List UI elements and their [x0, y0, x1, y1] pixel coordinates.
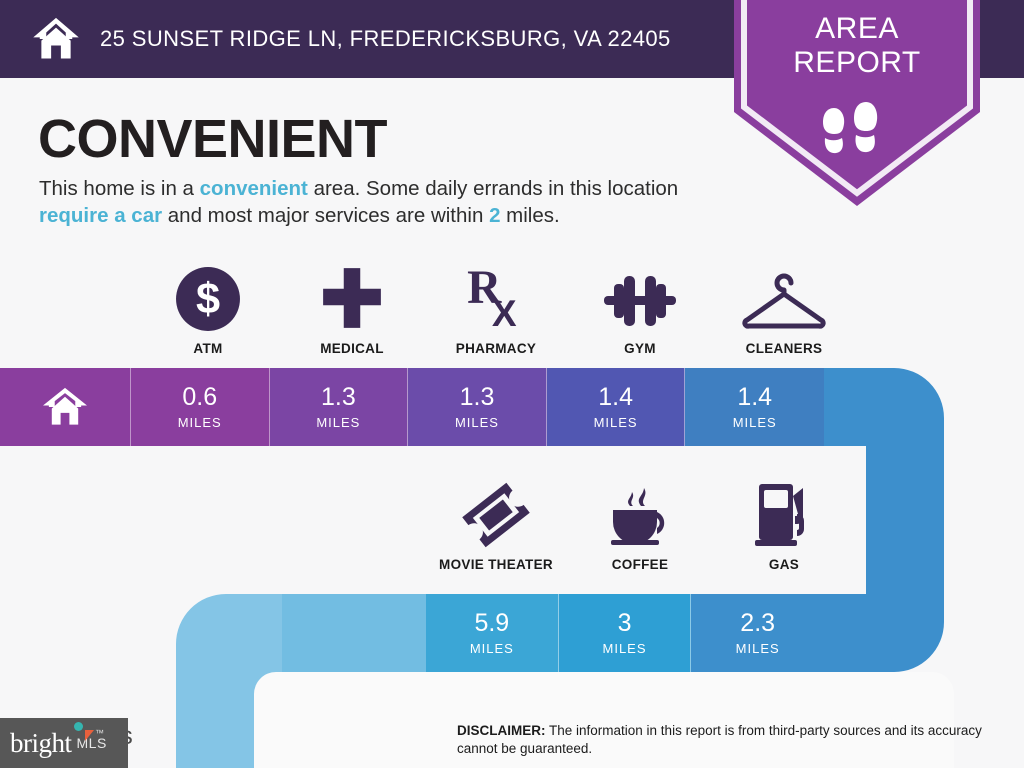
- hero-highlight-2: require a car: [39, 204, 162, 227]
- amenity-label: ATM: [193, 341, 222, 356]
- distance-value: 2.3: [740, 611, 775, 636]
- amenity-label: MEDICAL: [320, 341, 384, 356]
- house-icon: [41, 385, 89, 429]
- path-lead-segment: [282, 594, 426, 672]
- amenity-label: GAS: [769, 557, 799, 572]
- amenity-medical: MEDICAL: [280, 262, 424, 356]
- distance-segment-gas: 2.3 MILES: [691, 594, 824, 672]
- svg-text:X: X: [492, 292, 517, 332]
- amenity-icon-row-1: $ ATM MEDICAL R X PHARMACY: [0, 262, 1024, 362]
- distance-bar-row-1: 0.6 MILES 1.3 MILES 1.3 MILES 1.4 MILES …: [0, 368, 824, 446]
- distance-value: 3: [618, 611, 632, 636]
- watermark-brand: bright: [10, 728, 72, 759]
- hero-highlight-1: convenient: [200, 177, 308, 200]
- hero-text-2: area. Some daily errands in this locatio…: [308, 177, 678, 200]
- hero-text-3: and most major services are within: [162, 204, 489, 227]
- amenity-label: CLEANERS: [746, 341, 823, 356]
- disclaimer-text: DISCLAIMER: The information in this repo…: [457, 722, 997, 758]
- dollar-circle-icon: $: [175, 262, 241, 332]
- distance-unit: MILES: [470, 641, 514, 656]
- svg-text:$: $: [196, 275, 220, 323]
- distance-segment-atm: 0.6 MILES: [131, 368, 270, 446]
- distance-value: 1.3: [460, 385, 495, 410]
- distance-value: 1.3: [321, 385, 356, 410]
- distance-unit: MILES: [178, 415, 222, 430]
- watermark-dot-icon: [74, 722, 83, 731]
- area-report-badge: AREA REPORT: [734, 0, 980, 206]
- distance-value: 0.6: [182, 385, 217, 410]
- distance-unit: MILES: [316, 415, 360, 430]
- amenity-icon-row-2: MOVIE THEATER COFFEE GAS: [0, 478, 1024, 578]
- amenity-label: MOVIE THEATER: [439, 557, 553, 572]
- distance-segment-coffee: 3 MILES: [559, 594, 692, 672]
- amenity-label: COFFEE: [612, 557, 669, 572]
- distance-unit: MILES: [603, 641, 647, 656]
- amenity-atm: $ ATM: [136, 262, 280, 356]
- watermark-trademark: ™: [95, 728, 104, 738]
- distance-segment-pharmacy: 1.3 MILES: [408, 368, 547, 446]
- distance-unit: MILES: [733, 415, 777, 430]
- distance-bar-row-2: 5.9 MILES 3 MILES 2.3 MILES: [426, 594, 824, 672]
- amenity-pharmacy: R X PHARMACY: [424, 262, 568, 356]
- amenity-gas: GAS: [712, 478, 856, 572]
- hero-text-1: This home is in a: [39, 177, 200, 200]
- hero-description: This home is in a convenient area. Some …: [39, 175, 739, 230]
- distance-unit: MILES: [455, 415, 499, 430]
- hero-highlight-3: 2: [489, 204, 500, 227]
- dumbbell-icon: [604, 262, 676, 332]
- watermark-flag-icon: [85, 730, 94, 741]
- rx-icon: R X: [463, 262, 529, 332]
- distance-segment-cleaners: 1.4 MILES: [685, 368, 824, 446]
- home-origin-segment: [0, 368, 131, 446]
- brightmls-watermark: bright MLS ™: [0, 718, 128, 768]
- property-address: 25 SUNSET RIDGE LN, FREDERICKSBURG, VA 2…: [100, 26, 671, 52]
- amenity-gym: GYM: [568, 262, 712, 356]
- distance-segment-movie-theater: 5.9 MILES: [426, 594, 559, 672]
- amenity-coffee: COFFEE: [568, 478, 712, 572]
- gas-pump-icon: [751, 478, 817, 548]
- distance-value: 5.9: [474, 611, 509, 636]
- amenity-label: GYM: [624, 341, 656, 356]
- amenity-label: PHARMACY: [456, 341, 536, 356]
- page-title: CONVENIENT: [38, 108, 387, 170]
- distance-segment-gym: 1.4 MILES: [547, 368, 686, 446]
- amenity-cleaners: CLEANERS: [712, 262, 856, 356]
- ticket-icon: [462, 478, 530, 548]
- distance-value: 1.4: [598, 385, 633, 410]
- disclaimer-label: DISCLAIMER:: [457, 723, 546, 738]
- medical-cross-icon: [319, 262, 385, 332]
- distance-segment-medical: 1.3 MILES: [270, 368, 409, 446]
- distance-value: 1.4: [737, 385, 772, 410]
- hero-text-4: miles.: [500, 204, 559, 227]
- hanger-icon: [741, 262, 827, 332]
- amenity-movie-theater: MOVIE THEATER: [424, 478, 568, 572]
- distance-unit: MILES: [594, 415, 638, 430]
- house-icon: [30, 13, 82, 65]
- distance-unit: MILES: [736, 641, 780, 656]
- coffee-icon: [605, 478, 675, 548]
